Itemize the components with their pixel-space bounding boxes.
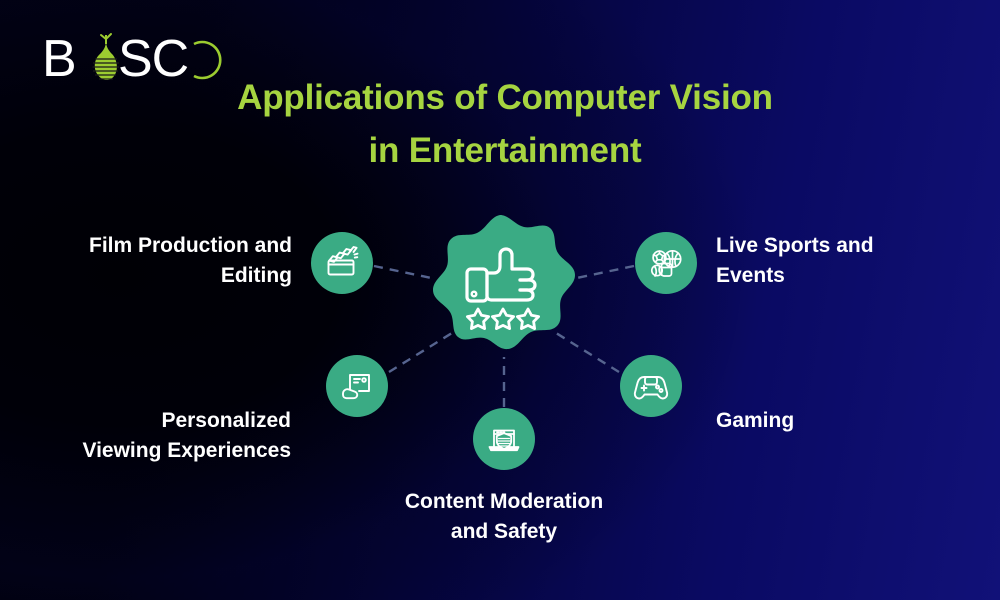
- node-live-sports-and-events[interactable]: [635, 232, 697, 294]
- svg-text:SC: SC: [118, 30, 188, 88]
- label-content-moderation-and-safety: Content Moderation and Safety: [354, 487, 654, 547]
- label-line-1: Film Production and: [40, 231, 292, 261]
- label-line-2: Editing: [40, 261, 292, 291]
- title-line-2: in Entertainment: [180, 125, 830, 178]
- infographic-canvas: B SC Applications of C: [0, 0, 1000, 600]
- label-line-2: Viewing Experiences: [30, 436, 291, 466]
- pear-icon: [93, 34, 120, 80]
- label-line-1: Live Sports and: [716, 231, 966, 261]
- svg-text:B: B: [42, 30, 76, 88]
- label-gaming: Gaming: [716, 406, 966, 436]
- label-line-2: and Safety: [354, 517, 654, 547]
- label-line-1: Gaming: [716, 406, 966, 436]
- label-live-sports-and-events: Live Sports and Events: [716, 231, 966, 291]
- laptop-shield-icon: [486, 421, 522, 457]
- center-badge[interactable]: [429, 209, 579, 359]
- page-title: Applications of Computer Vision in Enter…: [180, 72, 830, 177]
- node-personalized-viewing-experiences[interactable]: [326, 355, 388, 417]
- node-film-production-and-editing[interactable]: [311, 232, 373, 294]
- label-line-1: Personalized: [30, 406, 291, 436]
- sports-balls-icon: [648, 245, 684, 281]
- game-controller-icon: [632, 367, 670, 405]
- connector-film: [374, 266, 436, 279]
- node-gaming[interactable]: [620, 355, 682, 417]
- label-line-2: Events: [716, 261, 966, 291]
- node-content-moderation-and-safety[interactable]: [473, 408, 535, 470]
- label-film-production-and-editing: Film Production and Editing: [40, 231, 292, 291]
- hand-media-card-icon: [340, 369, 374, 403]
- label-personalized-viewing-experiences: Personalized Viewing Experiences: [30, 406, 291, 466]
- scalloped-badge-shape: [433, 215, 575, 349]
- label-line-1: Content Moderation: [354, 487, 654, 517]
- connector-sports: [572, 266, 634, 279]
- title-line-1: Applications of Computer Vision: [180, 72, 830, 125]
- clapperboard-icon: [324, 245, 360, 281]
